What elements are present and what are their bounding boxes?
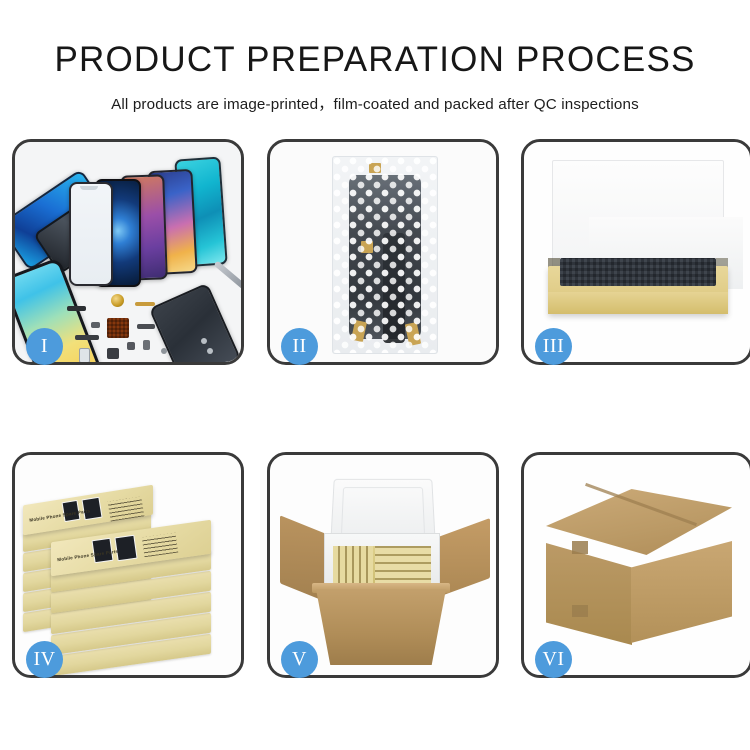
small-part-a xyxy=(127,342,135,350)
box-stack: Mobile Phone Spare Parts Mobile Phone Sp… xyxy=(17,469,241,669)
connector-grid xyxy=(107,318,129,338)
step-badge-4: IV xyxy=(26,641,63,678)
tweezers-icon xyxy=(214,260,241,289)
steps-grid: Mobile Phone Spare Parts Mobile Phone Sp… xyxy=(0,0,750,750)
product-preparation-infographic: PRODUCT PREPARATION PROCESS All products… xyxy=(0,0,750,750)
step-badge-6: VI xyxy=(535,641,572,678)
step-badge-1: I xyxy=(26,328,63,365)
small-part-b xyxy=(143,340,150,350)
flex-cable-gold xyxy=(135,302,155,306)
bubble-texture xyxy=(333,157,437,353)
screen-protector-glass xyxy=(69,182,113,286)
screw-a xyxy=(161,348,167,354)
step-badge-2: II xyxy=(281,328,318,365)
box-front-face xyxy=(548,292,728,314)
carton-right-face xyxy=(631,541,732,643)
carton-tape-upper xyxy=(572,541,588,554)
flex-cable-dark xyxy=(75,335,99,340)
packed-yellow-boxes xyxy=(333,546,431,586)
bubble-wrap-layer xyxy=(560,258,716,286)
step-badge-3: III xyxy=(535,328,572,365)
small-part-c xyxy=(91,322,100,328)
camera-module xyxy=(107,348,119,359)
bubble-wrap-bag xyxy=(332,156,438,354)
sim-tray xyxy=(79,348,90,362)
screw-b xyxy=(201,338,207,344)
carton-body xyxy=(316,589,446,665)
component-bar xyxy=(67,306,86,311)
carton-tape-lower xyxy=(572,605,588,617)
flex-cable-grey xyxy=(137,324,155,329)
box-open-lid xyxy=(552,160,724,272)
carton-left-face xyxy=(546,543,632,645)
step-badge-5: V xyxy=(281,641,318,678)
screw-c xyxy=(207,348,213,354)
box-artwork-screen-b2 xyxy=(114,535,137,562)
gold-chip xyxy=(111,294,124,307)
